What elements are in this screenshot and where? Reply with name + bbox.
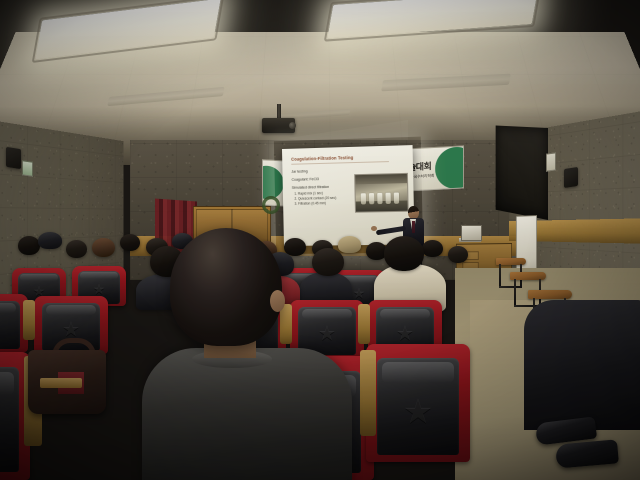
seat-highlight bbox=[46, 305, 97, 315]
attendee-head bbox=[92, 238, 115, 257]
seat-star-emblem: ★ bbox=[403, 395, 433, 429]
attendee-shirt bbox=[142, 348, 352, 480]
seat-highlight bbox=[20, 274, 57, 281]
jar-icon bbox=[385, 193, 390, 204]
seat-star-emblem: ★ bbox=[353, 286, 366, 300]
attendee-hair bbox=[170, 228, 282, 346]
seat-star-emblem: ★ bbox=[62, 320, 80, 340]
attendee-foreground bbox=[152, 228, 352, 480]
wall-wreath-decoration bbox=[262, 196, 280, 214]
seat-highlight bbox=[0, 372, 14, 395]
jar-icon bbox=[394, 193, 399, 204]
seat-highlight bbox=[382, 362, 453, 383]
handbag-clasp bbox=[40, 378, 82, 388]
exit-sign-icon bbox=[22, 160, 33, 177]
seat-armrest bbox=[358, 304, 370, 344]
attendee-head bbox=[18, 236, 40, 255]
attendee-head bbox=[66, 240, 87, 258]
wall-switch-plate bbox=[546, 152, 556, 171]
photo-background bbox=[355, 174, 407, 184]
laptop-screen bbox=[461, 225, 482, 241]
presenter-hand bbox=[371, 226, 377, 231]
presenter-necktie bbox=[412, 221, 415, 233]
seat-back: ★ bbox=[0, 367, 19, 472]
banner-subtitle-text: 한국수처리학회 bbox=[410, 173, 434, 180]
seat-armrest bbox=[360, 350, 376, 436]
lecture-hall-photo: 술대회 한국수처리학회 Coagulation-Filtration Testi… bbox=[0, 0, 640, 480]
seat-highlight bbox=[80, 272, 117, 279]
attendee-ear bbox=[270, 290, 285, 312]
projector-lens-icon bbox=[289, 122, 296, 129]
right-wall-window bbox=[496, 126, 548, 220]
seat-highlight bbox=[380, 309, 431, 319]
jar-icon bbox=[361, 193, 366, 204]
dress-shoe bbox=[555, 439, 619, 468]
attendee-head bbox=[384, 236, 424, 271]
attendee-black-cap bbox=[38, 232, 62, 249]
attendee-right-aisle bbox=[514, 300, 640, 480]
attendee-head bbox=[422, 240, 443, 257]
banner-arc-graphic bbox=[431, 145, 464, 191]
desk-leg bbox=[499, 264, 501, 288]
auditorium-seat: ★ bbox=[366, 344, 470, 462]
seat-highlight bbox=[0, 303, 16, 313]
projector-mount-pole bbox=[277, 104, 281, 119]
jar-icon bbox=[377, 193, 382, 204]
jar-icon bbox=[369, 193, 374, 204]
attendee-head bbox=[448, 246, 468, 263]
speaker-icon bbox=[564, 167, 578, 188]
speaker-icon bbox=[6, 147, 21, 169]
attendee-trousers bbox=[524, 300, 640, 430]
attendee-head bbox=[120, 234, 140, 251]
desk-rail bbox=[499, 286, 521, 288]
seat-armrest bbox=[23, 300, 35, 340]
seat-back: ★ bbox=[0, 301, 20, 349]
seat-back: ★ bbox=[377, 358, 458, 455]
seat-star-emblem: ★ bbox=[396, 324, 414, 344]
seat-star-emblem: ★ bbox=[93, 282, 106, 296]
